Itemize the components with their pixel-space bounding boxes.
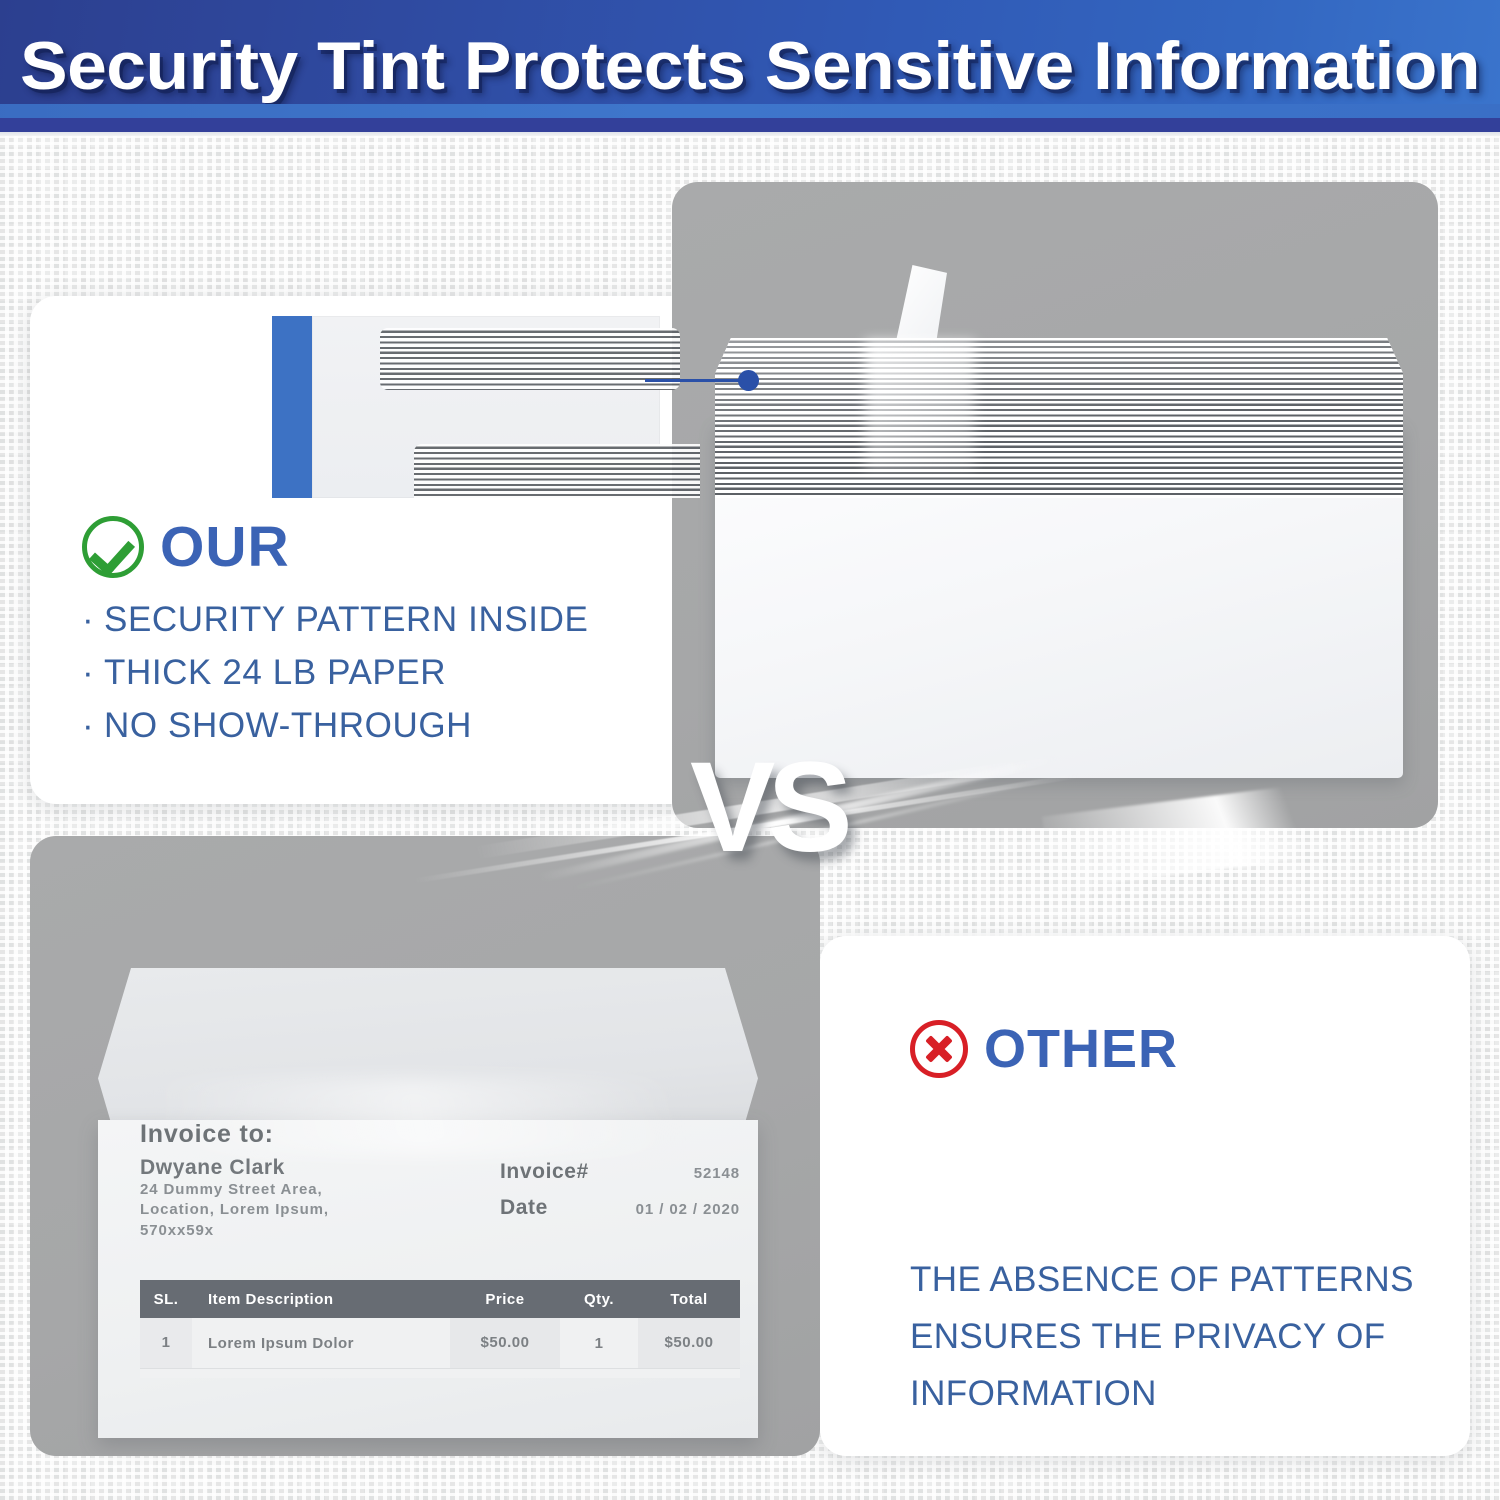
zoom-detail-paper [312, 316, 660, 498]
cell-desc: Lorem Ipsum Dolor [192, 1335, 450, 1352]
other-heading-row: OTHER [910, 1020, 1414, 1078]
banner-strip-light [0, 104, 1500, 118]
col-header-sl: SL. [140, 1291, 192, 1308]
our-bullet-list: ·SECURITY PATTERN INSIDE ·THICK 24 LB PA… [82, 600, 588, 746]
our-heading: OUR [160, 519, 290, 576]
invoice-date-label: Date [500, 1196, 548, 1220]
invoice-table-header-row: SL. Item Description Price Qty. Total [140, 1280, 740, 1318]
cell-price: $50.00 [450, 1318, 560, 1368]
invoice-number-label: Invoice# [500, 1160, 589, 1184]
check-circle-icon [82, 516, 144, 578]
security-pattern-zoom-detail [272, 316, 660, 498]
invoice-date-value: 01 / 02 / 2020 [636, 1201, 740, 1218]
banner-hairline [0, 132, 1500, 136]
invoice-meta-row: Date 01 / 02 / 2020 [500, 1196, 740, 1220]
page-title: Security Tint Protects Sensitive Informa… [20, 27, 1480, 105]
invoice-show-through: Invoice to: Dwyane Clark 24 Dummy Street… [140, 1120, 740, 1378]
invoice-table: SL. Item Description Price Qty. Total 1 … [140, 1280, 740, 1378]
security-pattern-band-top [380, 328, 680, 390]
invoice-title: Invoice to: [140, 1120, 740, 1149]
our-heading-row: OUR [82, 516, 588, 578]
col-header-qty: Qty. [560, 1291, 638, 1308]
other-heading: OTHER [984, 1022, 1178, 1076]
header-banner: Security Tint Protects Sensitive Informa… [0, 0, 1500, 132]
list-item: ·THICK 24 LB PAPER [82, 653, 588, 693]
invoice-meta-row: Invoice# 52148 [500, 1160, 740, 1184]
other-body-line: ENSURES THE PRIVACY OF [910, 1317, 1414, 1357]
zoom-detail-accent-bar [272, 316, 312, 498]
our-envelope-flap-security-pattern [715, 338, 1403, 498]
cell-total: $50.00 [638, 1318, 740, 1368]
other-body-line: THE ABSENCE OF PATTERNS [910, 1260, 1414, 1300]
x-circle-icon [910, 1020, 968, 1078]
list-item: ·NO SHOW-THROUGH [82, 706, 588, 746]
other-body-text: THE ABSENCE OF PATTERNS ENSURES THE PRIV… [910, 1260, 1414, 1414]
col-header-desc: Item Description [192, 1291, 450, 1308]
callout-line [645, 379, 753, 382]
list-item-label: THICK 24 LB PAPER [104, 653, 446, 692]
list-item-label: SECURITY PATTERN INSIDE [104, 600, 588, 639]
list-item: ·SECURITY PATTERN INSIDE [82, 600, 588, 640]
other-body-line: INFORMATION [910, 1374, 1414, 1414]
bullet-icon: · [82, 653, 104, 693]
col-header-price: Price [450, 1291, 560, 1308]
bullet-icon: · [82, 706, 104, 746]
our-envelope [715, 338, 1403, 778]
other-feature-block: OTHER THE ABSENCE OF PATTERNS ENSURES TH… [910, 1020, 1414, 1431]
our-feature-block: OUR ·SECURITY PATTERN INSIDE ·THICK 24 L… [82, 516, 588, 759]
invoice-number-value: 52148 [694, 1165, 740, 1182]
col-header-total: Total [638, 1291, 740, 1308]
bullet-icon: · [82, 600, 104, 640]
security-pattern-band-bottom [414, 444, 700, 498]
callout-dot-icon [738, 370, 759, 391]
invoice-meta: Invoice# 52148 Date 01 / 02 / 2020 [500, 1160, 740, 1232]
envelope-paper-shadow [865, 340, 975, 470]
cell-qty: 1 [560, 1335, 638, 1352]
cell-sl: 1 [140, 1318, 192, 1368]
table-row-partial [140, 1368, 740, 1378]
table-row: 1 Lorem Ipsum Dolor $50.00 1 $50.00 [140, 1318, 740, 1368]
list-item-label: NO SHOW-THROUGH [104, 706, 472, 745]
banner-strip-dark [0, 118, 1500, 132]
